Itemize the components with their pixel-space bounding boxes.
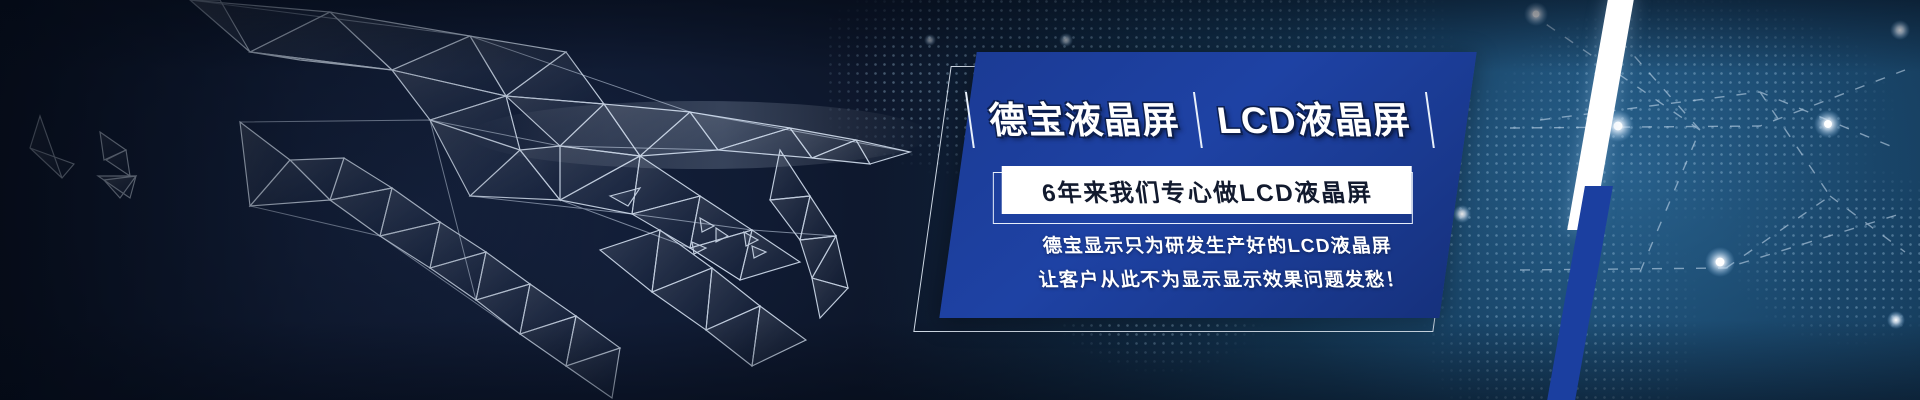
tagline-box: 6年来我们专心做LCD液晶屏 (1002, 166, 1412, 214)
description-line-1: 德宝显示只为研发生产好的LCD液晶屏 (955, 230, 1480, 264)
tagline-text: 6年来我们专心做LCD液晶屏 (1039, 173, 1375, 208)
headline-divider-right (1424, 92, 1434, 148)
headline-row: 德宝液晶屏 LCD液晶屏 (936, 92, 1464, 148)
headline-product: LCD液晶屏 (1215, 102, 1413, 139)
description-line-2: 让客户从此不为显示显示效果问题发愁！ (960, 264, 1485, 298)
headline-divider-left (965, 92, 975, 148)
headline-divider-middle (1193, 92, 1203, 148)
headline-brand: 德宝液晶屏 (987, 102, 1182, 139)
description-block: 德宝显示只为研发生产好的LCD液晶屏 让客户从此不为显示显示效果问题发愁！ (955, 230, 1485, 298)
promo-text-panel: 德宝液晶屏 LCD液晶屏 6年来我们专心做LCD液晶屏 德宝显示只为研发生产好的… (950, 52, 1470, 332)
panel-content: 德宝液晶屏 LCD液晶屏 6年来我们专心做LCD液晶屏 德宝显示只为研发生产好的… (930, 52, 1489, 332)
promo-banner: 德宝液晶屏 LCD液晶屏 6年来我们专心做LCD液晶屏 德宝显示只为研发生产好的… (0, 0, 1920, 400)
